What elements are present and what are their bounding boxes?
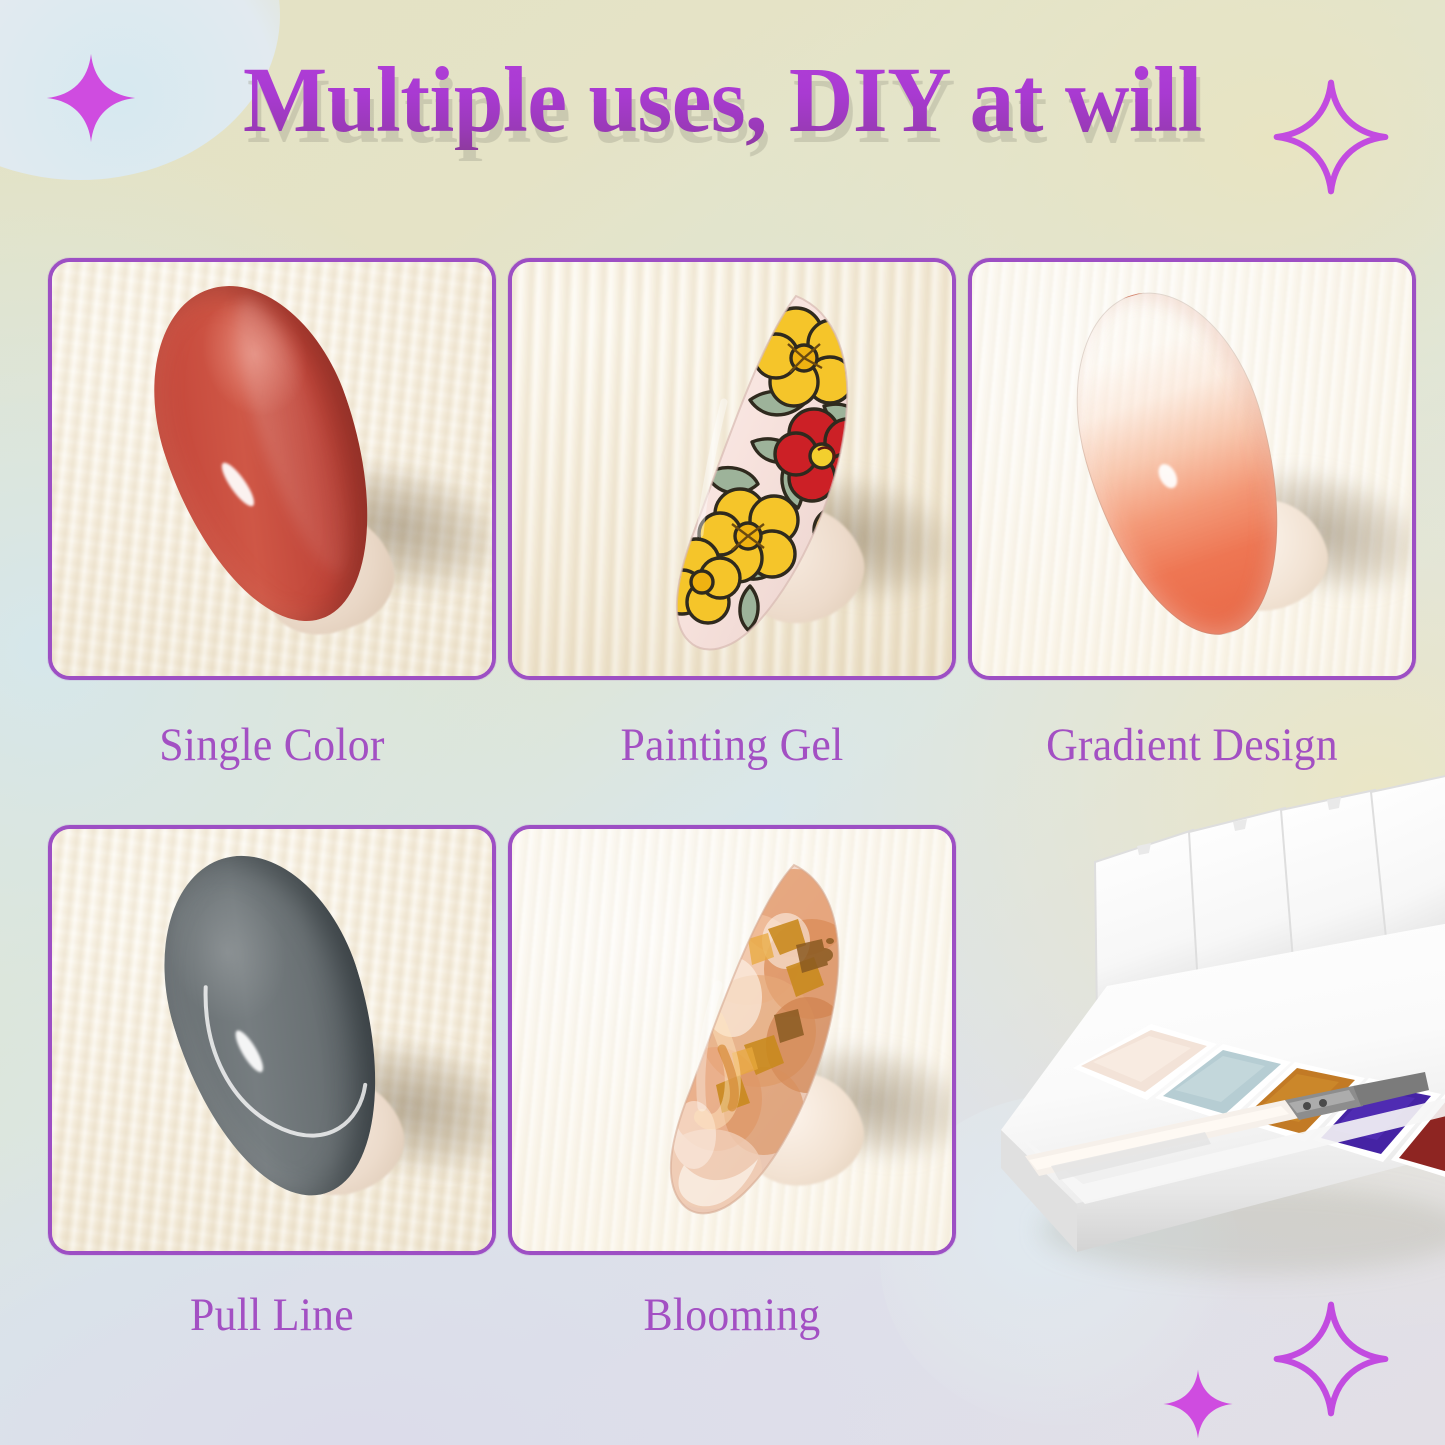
feature-card-pull-line[interactable] xyxy=(48,825,496,1255)
caption-blooming: Blooming xyxy=(524,1288,941,1342)
nail-gloss-highlight xyxy=(217,459,259,510)
feature-card-single-color[interactable] xyxy=(48,258,496,680)
page-title-container: Multiple uses, DIY at will xyxy=(0,52,1445,150)
photo-single-color xyxy=(52,262,492,676)
sparkle-bottom-right-small-icon xyxy=(1162,1368,1234,1440)
caption-gradient-design: Gradient Design xyxy=(984,718,1401,772)
product-feature-graphic: Multiple uses, DIY at will xyxy=(0,0,1445,1445)
gel-palette-product[interactable] xyxy=(955,800,1445,1320)
photo-blooming xyxy=(512,829,952,1251)
nail-painting-gel xyxy=(600,282,910,672)
photo-gradient-design xyxy=(972,262,1412,676)
caption-pull-line: Pull Line xyxy=(64,1288,481,1342)
photo-painting-gel xyxy=(512,262,952,676)
caption-single-color: Single Color xyxy=(64,718,481,772)
feature-card-blooming[interactable] xyxy=(508,825,956,1255)
nail-blooming xyxy=(598,849,898,1239)
nail-gloss-highlight xyxy=(1155,461,1181,491)
photo-pull-line xyxy=(52,829,492,1251)
caption-painting-gel: Painting Gel xyxy=(524,718,941,772)
feature-card-gradient-design[interactable] xyxy=(968,258,1416,680)
page-title: Multiple uses, DIY at will xyxy=(243,52,1202,150)
feature-card-painting-gel[interactable] xyxy=(508,258,956,680)
